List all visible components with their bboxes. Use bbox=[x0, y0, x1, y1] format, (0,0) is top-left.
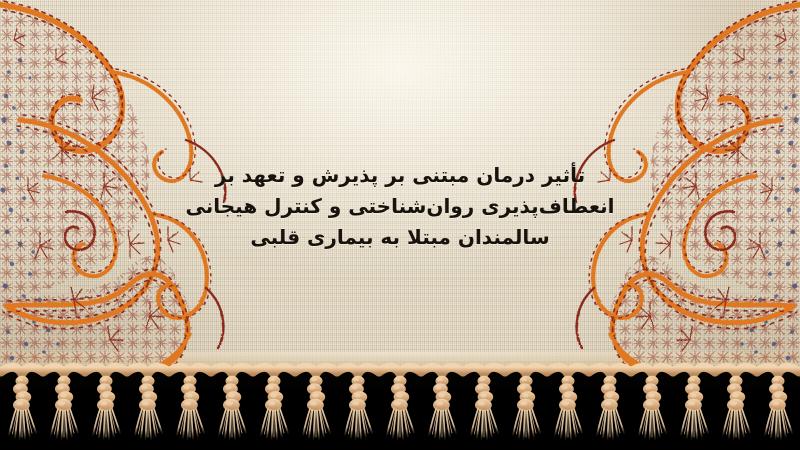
title-line-2: انعطاف‌پذیری روان‌شناختی و کنترل هیجانی bbox=[0, 191, 800, 222]
title-block: تأثیر درمان مبتنی بر پذیرش و تعهد بر انع… bbox=[0, 160, 800, 253]
tassel-fringe bbox=[0, 362, 800, 450]
title-line-3: سالمندان مبتلا به بیماری قلبی bbox=[0, 222, 800, 253]
title-card: تأثیر درمان مبتنی بر پذیرش و تعهد بر انع… bbox=[0, 0, 800, 450]
title-line-1: تأثیر درمان مبتنی بر پذیرش و تعهد بر bbox=[0, 160, 800, 191]
